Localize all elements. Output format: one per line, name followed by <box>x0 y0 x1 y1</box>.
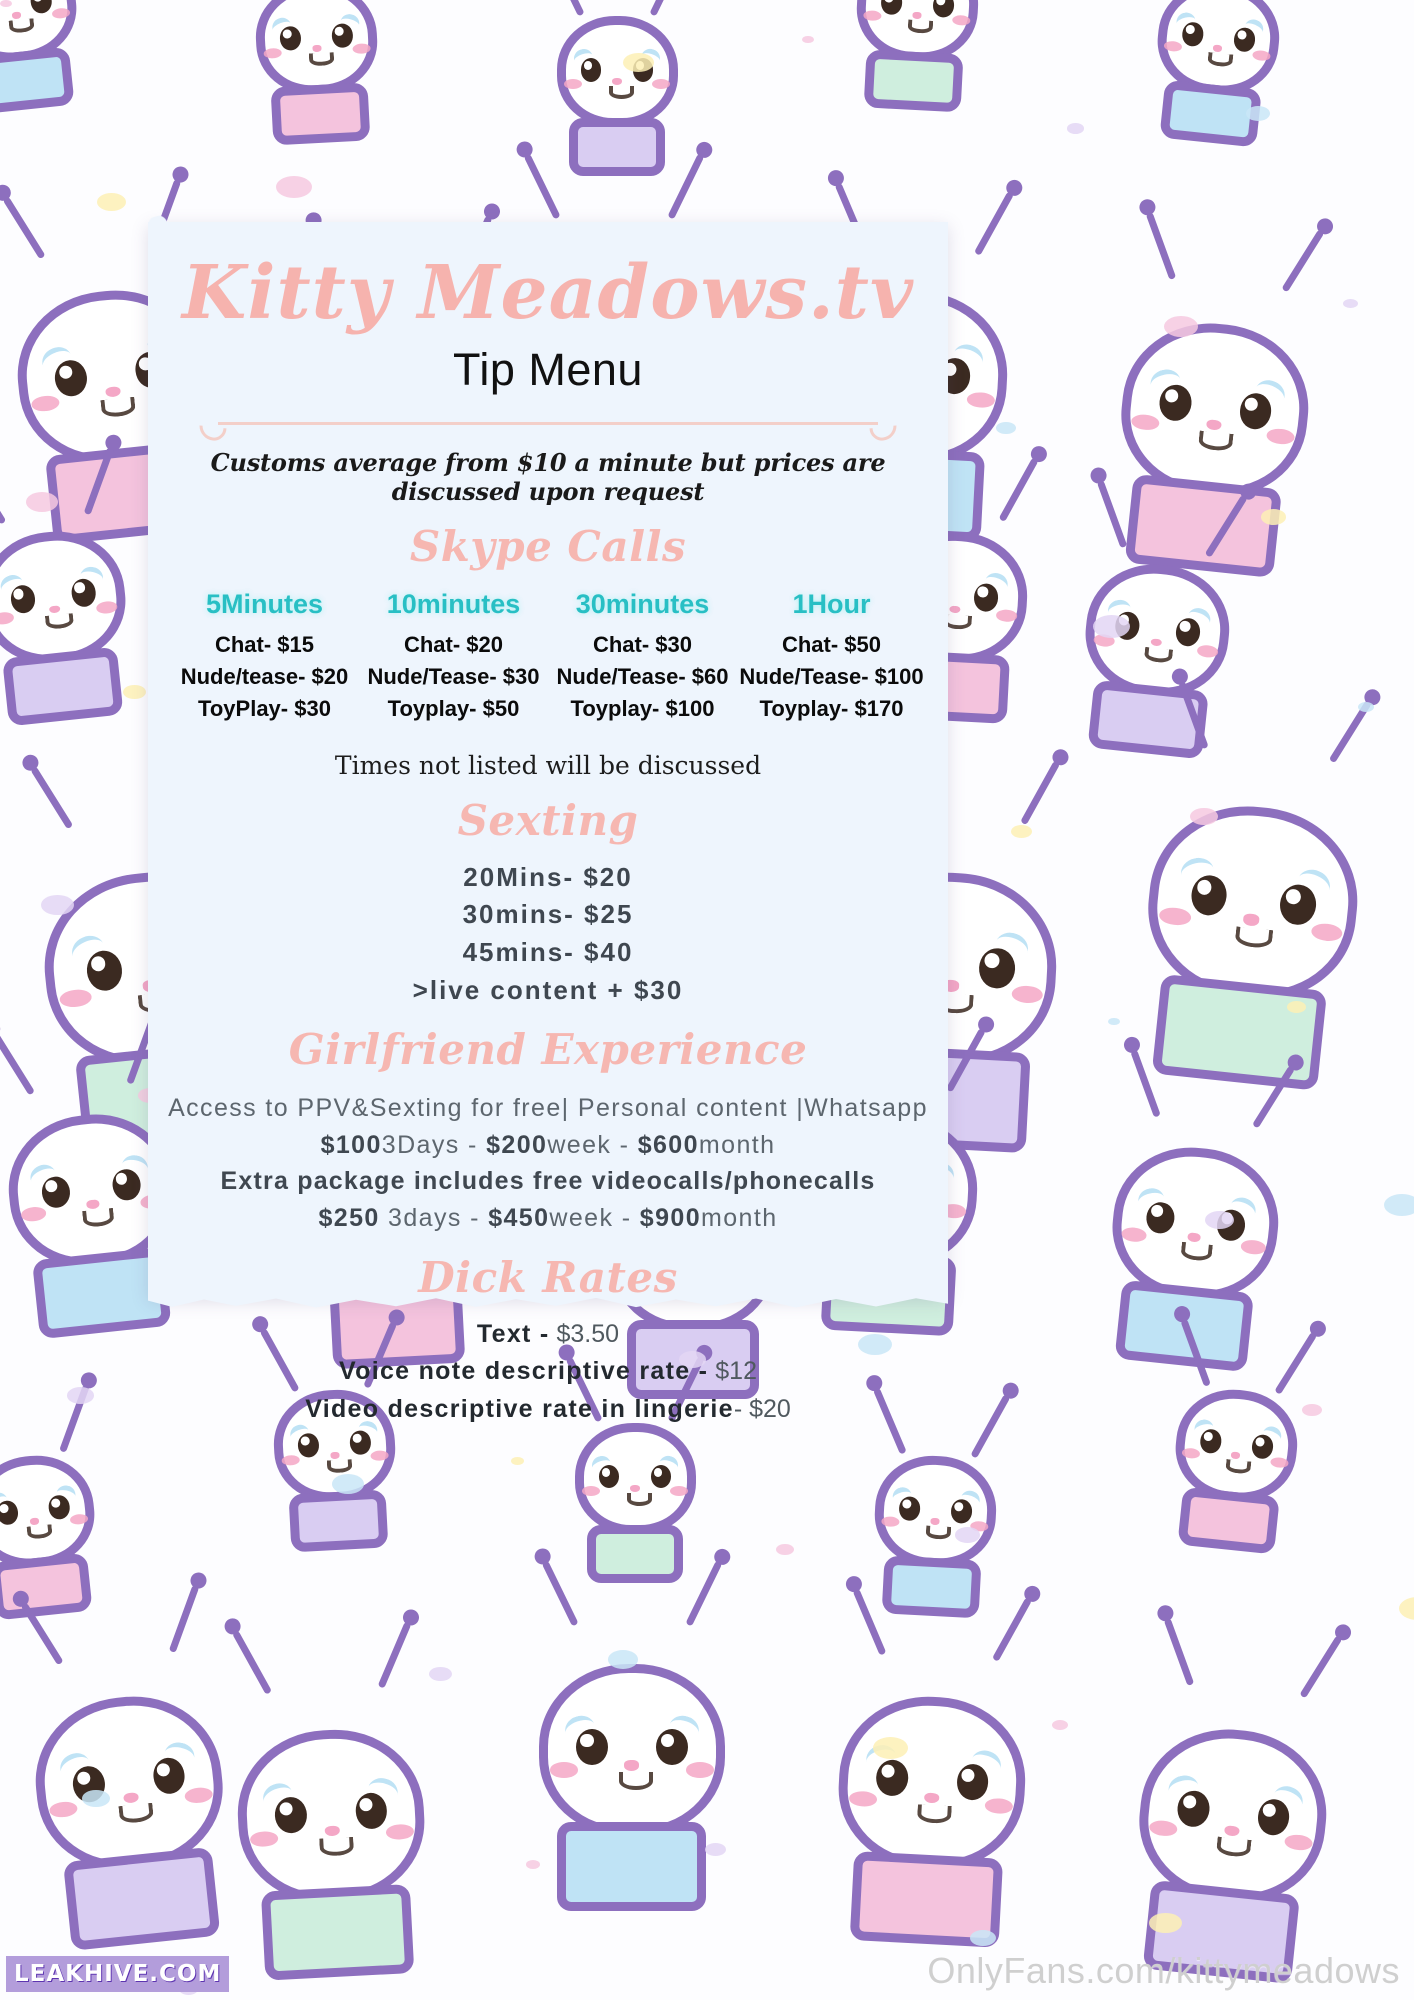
list-item: 45mins- $40 <box>166 934 930 972</box>
price-nude: Nude/Tease- $60 <box>548 661 737 693</box>
list-item: >live content + $30 <box>166 972 930 1010</box>
dick-rate-label: Voice note descriptive rate - <box>339 1357 708 1385</box>
confetti-blob <box>1287 1001 1306 1013</box>
gfe-tier1-sep-1: - <box>460 1131 486 1159</box>
confetti-blob <box>123 685 146 699</box>
confetti-blob <box>26 492 58 512</box>
cat-illustration <box>557 16 678 127</box>
gfe-tier1-price-2: $200 <box>486 1131 547 1159</box>
price-chat: Chat- $15 <box>170 629 359 661</box>
price-chat: Chat- $30 <box>548 629 737 661</box>
page-subtitle: Tip Menu <box>166 344 930 396</box>
price-toyplay: Toyplay- $100 <box>548 693 737 725</box>
confetti-blob <box>1164 316 1198 337</box>
divider-curl-left-icon <box>194 408 232 446</box>
cat-illustration <box>575 1423 696 1534</box>
cat-illustration <box>1106 1140 1286 1308</box>
confetti-blob <box>1399 1597 1414 1620</box>
divider-curl-right-icon <box>864 408 902 446</box>
section-heading-dick-rates: Dick Rates <box>166 1253 930 1302</box>
price-toyplay: ToyPlay- $30 <box>170 693 359 725</box>
gfe-tier-1: $1003Days - $200week - $600month <box>166 1127 930 1163</box>
confetti-blob <box>1246 106 1270 121</box>
confetti-blob <box>608 1650 638 1669</box>
price-chat: Chat- $50 <box>737 629 926 661</box>
confetti-blob <box>332 1474 364 1494</box>
sexting-price-list: 20Mins- $20 30mins- $25 45mins- $40 >liv… <box>166 859 930 1010</box>
confetti-blob <box>1011 825 1032 838</box>
confetti-blob <box>1108 1018 1120 1025</box>
confetti-blob <box>1052 1720 1068 1730</box>
gfe-extra-note: Extra package includes free videocalls/p… <box>166 1163 930 1201</box>
price-toyplay: Toyplay- $170 <box>737 693 926 725</box>
confetti-blob <box>996 422 1016 434</box>
skype-footnote: Times not listed will be discussed <box>166 751 930 780</box>
cat-illustration <box>855 0 982 64</box>
list-item: 30mins- $25 <box>166 896 930 934</box>
confetti-blob <box>429 1667 452 1681</box>
price-nude: Nude/Tease- $30 <box>359 661 548 693</box>
cat-illustration <box>1132 1721 1335 1911</box>
price-chat: Chat- $20 <box>359 629 548 661</box>
price-column-10min: 10minutes Chat- $20 Nude/Tease- $30 Toyp… <box>359 589 548 725</box>
page-title: Kitty Meadows.tv <box>166 256 930 330</box>
confetti-blob <box>873 1737 908 1759</box>
confetti-blob <box>1093 615 1130 638</box>
cat-illustration <box>835 1693 1030 1874</box>
cat-illustration <box>0 1450 99 1573</box>
price-column-1hour: 1Hour Chat- $50 Nude/Tease- $100 Toyplay… <box>737 589 926 725</box>
gfe-tier2-price-2: $450 <box>488 1204 549 1232</box>
confetti-blob <box>1384 1194 1414 1216</box>
confetti-blob <box>955 1527 980 1543</box>
confetti-blob <box>526 1860 540 1869</box>
price-nude: Nude/tease- $20 <box>170 661 359 693</box>
divider-line <box>218 422 878 425</box>
duration-label: 10minutes <box>359 589 548 620</box>
confetti-blob <box>276 176 312 198</box>
cat-illustration <box>1171 1384 1303 1507</box>
price-column-30min: 30minutes Chat- $30 Nude/Tease- $60 Toyp… <box>548 589 737 725</box>
skype-price-columns: 5Minutes Chat- $15 Nude/tease- $20 ToyPl… <box>170 589 926 725</box>
gfe-tier1-label-2: week <box>547 1131 611 1159</box>
confetti-blob <box>970 1930 996 1946</box>
confetti-blob <box>511 1457 524 1465</box>
confetti-blob <box>1067 123 1084 134</box>
gfe-tier1-label-1: 3Days <box>382 1131 460 1159</box>
cat-illustration <box>1153 0 1285 100</box>
cat-illustration <box>0 525 131 671</box>
gfe-tier1-sep-2: - <box>611 1131 637 1159</box>
dick-rate-value: $12 <box>708 1357 757 1385</box>
list-item: 20Mins- $20 <box>166 859 930 897</box>
confetti-blob <box>1343 299 1358 308</box>
dick-rate-value: $3.50 <box>550 1320 620 1348</box>
gfe-tier2-price-1: $250 <box>318 1204 379 1232</box>
section-heading-sexting: Sexting <box>166 796 930 845</box>
gfe-access-line: Access to PPV&Sexting for free| Personal… <box>166 1090 930 1126</box>
tip-menu-card: Kitty Meadows.tv Tip Menu Customs averag… <box>148 222 948 1298</box>
cat-illustration <box>539 1664 725 1836</box>
dick-rate-value: - $20 <box>734 1395 791 1423</box>
gfe-tier2-price-3: $900 <box>640 1204 701 1232</box>
cat-illustration <box>233 1726 428 1907</box>
price-nude: Nude/Tease- $100 <box>737 661 926 693</box>
price-toyplay: Toyplay- $50 <box>359 693 548 725</box>
duration-label: 5Minutes <box>170 589 359 620</box>
section-heading-girlfriend-experience: Girlfriend Experience <box>166 1025 930 1074</box>
gfe-tier2-label-2: week <box>549 1204 613 1232</box>
price-column-5min: 5Minutes Chat- $15 Nude/tease- $20 ToyPl… <box>170 589 359 725</box>
gfe-tier1-price-1: $100 <box>321 1131 382 1159</box>
confetti-blob <box>1358 702 1374 712</box>
confetti-blob <box>802 36 814 43</box>
confetti-blob <box>67 1387 94 1404</box>
dick-rate-label: Video descriptive rate in lingerie <box>305 1395 734 1423</box>
confetti-blob <box>705 1843 726 1856</box>
duration-label: 30minutes <box>548 589 737 620</box>
customs-note: Customs average from $10 a minute but pr… <box>166 448 930 506</box>
cat-illustration <box>1140 797 1367 1009</box>
gfe-tier1-label-3: month <box>699 1131 775 1159</box>
leakhive-watermark: LEAKHIVE.COM <box>6 1956 229 1992</box>
list-item: Video descriptive rate in lingerie- $20 <box>166 1391 930 1429</box>
decorative-divider <box>200 412 896 434</box>
cat-illustration <box>873 1452 1000 1569</box>
cat-illustration <box>28 1688 231 1878</box>
list-item: Voice note descriptive rate - $12 <box>166 1353 930 1391</box>
cat-illustration <box>1114 314 1317 504</box>
gfe-tier2-sep-2: - <box>613 1204 639 1232</box>
gfe-tier2-label-1: 3days <box>380 1204 462 1232</box>
gfe-tier2-label-3: month <box>701 1204 777 1232</box>
confetti-blob <box>1205 1211 1234 1229</box>
gfe-tier1-price-3: $600 <box>638 1131 699 1159</box>
duration-label: 1Hour <box>737 589 926 620</box>
gfe-tier-2: $250 3days - $450week - $900month <box>166 1200 930 1236</box>
list-item: Text - $3.50 <box>166 1316 930 1354</box>
onlyfans-watermark: OnlyFans.com/kittymeadows <box>927 1950 1400 1992</box>
section-heading-skype-calls: Skype Calls <box>166 522 930 571</box>
cat-illustration <box>0 0 81 67</box>
confetti-blob <box>1302 1404 1322 1416</box>
confetti-blob <box>776 1544 794 1555</box>
cat-illustration <box>253 0 380 97</box>
dick-rate-label: Text - <box>477 1320 550 1348</box>
confetti-blob <box>1261 509 1286 525</box>
dick-rates-list: Text - $3.50 Voice note descriptive rate… <box>166 1316 930 1429</box>
gfe-tier2-sep-1: - <box>462 1204 488 1232</box>
confetti-blob <box>97 193 126 211</box>
